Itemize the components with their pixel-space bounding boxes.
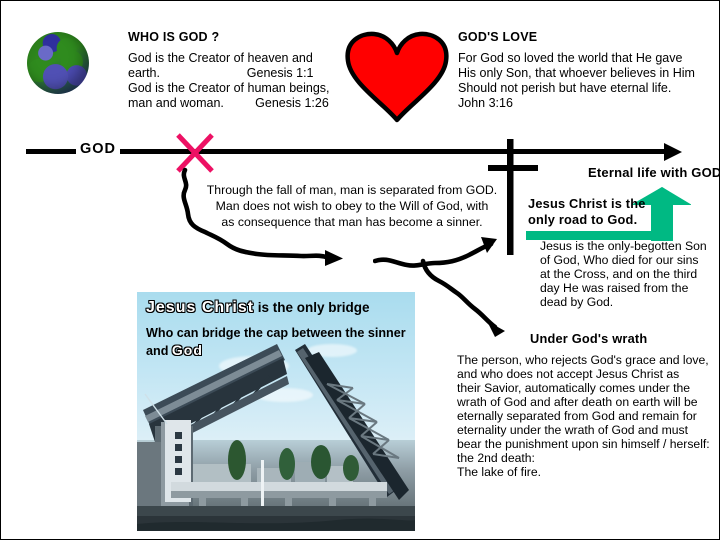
bridge-caption-line-1: Jesus Christ is the only bridge — [146, 299, 370, 317]
gods-love-line-4: John 3:16 — [458, 96, 513, 111]
jesus-road-line-2: of God, Who died for our sins — [540, 253, 699, 268]
globe-icon — [27, 32, 89, 94]
bridge-caption-line-3: and God — [146, 342, 203, 360]
who-is-god-line-2: earth. Genesis 1:1 — [128, 66, 314, 81]
gods-love-line-2: His only Son, that whoever believes in H… — [458, 66, 695, 81]
who-is-god-line-4: man and woman. Genesis 1:26 — [128, 96, 329, 111]
timeline-axis — [26, 149, 666, 154]
diagram-canvas: WHO IS GOD ? God is the Creator of heave… — [0, 0, 720, 540]
gods-wrath-line-6: eternality under the wrath of God and mu… — [457, 423, 688, 438]
gods-wrath-line-7: bear the punishment upon sin himself / h… — [457, 437, 710, 452]
gods-love-line-1: For God so loved the world that He gave — [458, 51, 682, 66]
timeline-right-label: Eternal life with GOD — [588, 165, 720, 180]
heart-icon — [343, 31, 451, 123]
timeline-left-label: GOD — [76, 141, 120, 157]
gods-wrath-line-1: The person, who rejects God's grace and … — [457, 353, 709, 368]
who-is-god-line-3: God is the Creator of human beings, — [128, 81, 330, 96]
jesus-road-heading-line-2: only road to God. — [528, 212, 637, 227]
gods-love-line-3: Should not perish but have eternal life. — [458, 81, 671, 96]
gods-wrath-line-3: their Savior, automatically comes under … — [457, 381, 690, 396]
gods-wrath-heading: Under God's wrath — [530, 331, 647, 346]
fall-of-man-line-1: Through the fall of man, man is separate… — [197, 182, 507, 198]
bridge-caption-god: God — [172, 342, 203, 358]
fall-of-man-line-2: Man does not wish to obey to the Will of… — [197, 198, 507, 214]
who-is-god-line-1: God is the Creator of heaven and — [128, 51, 313, 66]
gods-wrath-line-2: and who does not accept Jesus Christ as — [457, 367, 679, 382]
bridge-photo: Jesus Christ is the only bridge Who can … — [137, 292, 415, 531]
gods-wrath-line-5: eternally separated from God and remain … — [457, 409, 697, 424]
timeline-arrowhead — [664, 143, 682, 161]
gods-wrath-line-9: The lake of fire. — [457, 465, 541, 480]
jesus-road-line-5: dead by God. — [540, 295, 613, 310]
jesus-road-line-4: day He was raised from the — [540, 281, 688, 296]
gods-love-heading: GOD'S LOVE — [458, 30, 537, 44]
fall-of-man-line-3: as consequence that man has become a sin… — [197, 214, 507, 230]
bridge-caption-line-2-text: Who can bridge the cap between the sinne… — [146, 326, 406, 340]
bridge-caption-jesus-christ: Jesus Christ — [146, 299, 254, 316]
who-is-god-heading: WHO IS GOD ? — [128, 30, 219, 44]
gods-wrath-line-8: the 2nd death: — [457, 451, 535, 466]
bridge-caption-line-2: Who can bridge the cap between the sinne… — [146, 324, 406, 342]
gods-wrath-line-4: wrath of God and after death on earth wi… — [457, 395, 698, 410]
bridge-caption-rest: is the only bridge — [254, 300, 370, 315]
jesus-road-heading-line-1: Jesus Christ is the — [528, 196, 646, 211]
jesus-road-line-1: Jesus is the only-begotten Son — [540, 239, 707, 254]
bridge-caption-and: and — [146, 344, 172, 358]
jesus-road-line-3: at the Cross, and on the third — [540, 267, 697, 282]
